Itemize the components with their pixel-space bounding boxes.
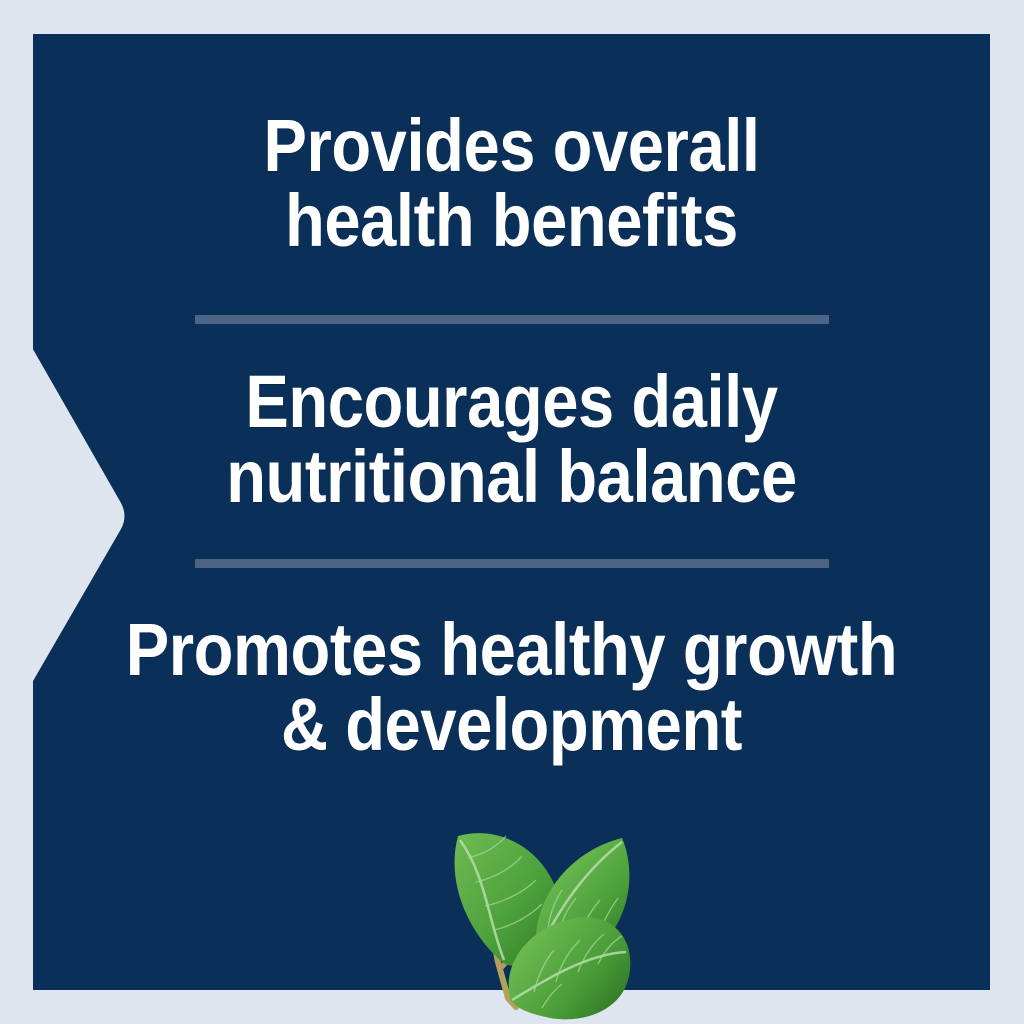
promo-card: Provides overall health benefits Encoura… <box>0 0 1024 1024</box>
divider-2 <box>195 559 829 568</box>
benefit-item-2: Encourages daily nutritional balance <box>90 364 932 515</box>
divider-1 <box>195 315 829 324</box>
benefit-item-3: Promotes healthy growth & development <box>90 612 932 763</box>
benefit-item-1: Provides overall health benefits <box>90 108 932 259</box>
benefits-list: Provides overall health benefits Encoura… <box>33 34 990 990</box>
